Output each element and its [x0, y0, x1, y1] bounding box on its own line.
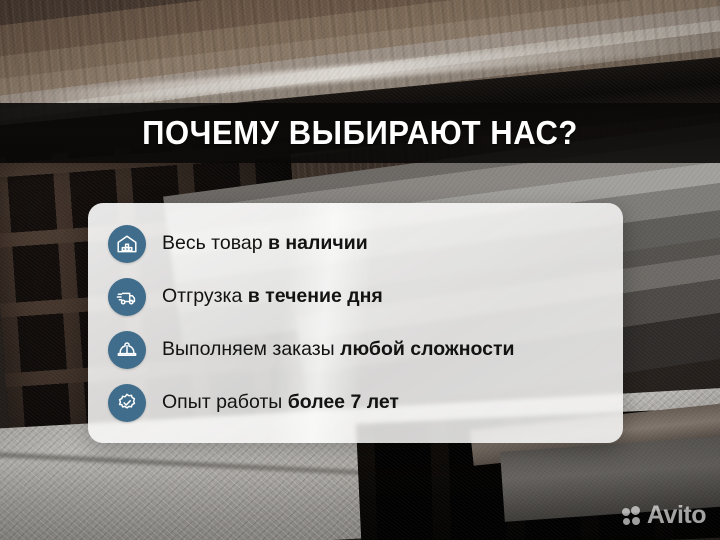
feature-label-bold: более 7 лет [288, 391, 399, 413]
feature-label-regular: Отгрузка [162, 285, 248, 307]
features-panel: Весь товар в наличии Отгрузка в течение … [88, 203, 623, 443]
feature-label-bold: в наличии [268, 232, 368, 254]
verified-badge-icon [108, 384, 146, 422]
feature-row: Опыт работы более 7 лет [108, 382, 605, 424]
feature-label: Весь товар в наличии [162, 233, 368, 254]
listing-image: ПОЧЕМУ ВЫБИРАЮТ НАС? Весь товар в наличи… [0, 0, 720, 540]
feature-row: Весь товар в наличии [108, 223, 605, 265]
feature-row: Отгрузка в течение дня [108, 276, 605, 318]
feature-label-bold: любой сложности [340, 338, 514, 360]
headline-band: ПОЧЕМУ ВЫБИРАЮТ НАС? [0, 103, 720, 163]
page-title: ПОЧЕМУ ВЫБИРАЮТ НАС? [22, 114, 699, 152]
feature-row: Выполняем заказы любой сложности [108, 329, 605, 371]
feature-label: Отгрузка в течение дня [162, 286, 383, 307]
feature-label-bold: в течение дня [248, 285, 383, 307]
feature-label: Опыт работы более 7 лет [162, 392, 399, 413]
hard-hat-icon [108, 331, 146, 369]
delivery-truck-icon [108, 278, 146, 316]
feature-label-regular: Опыт работы [162, 391, 288, 413]
feature-label-regular: Весь товар [162, 232, 268, 254]
warehouse-icon [108, 225, 146, 263]
feature-label: Выполняем заказы любой сложности [162, 339, 515, 360]
feature-label-regular: Выполняем заказы [162, 338, 340, 360]
